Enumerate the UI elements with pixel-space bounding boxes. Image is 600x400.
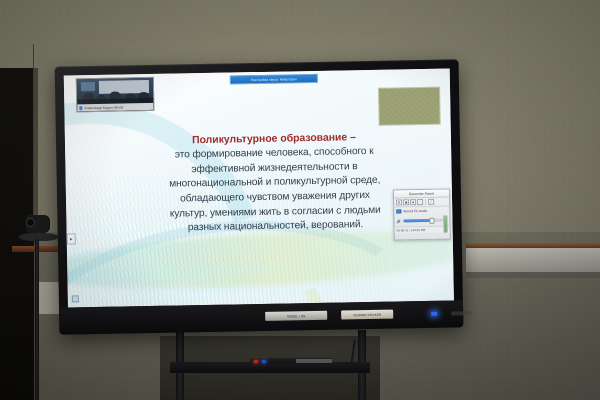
settings-icon[interactable]: ⚙ bbox=[396, 199, 402, 205]
pip-nameplate: Александр Кадан (Host) bbox=[77, 103, 153, 111]
audio-level-meter bbox=[443, 216, 447, 233]
slide-corner-icon[interactable] bbox=[72, 295, 79, 302]
classroom-photo: Александр Кадан (Host) Настройка звука: … bbox=[0, 0, 600, 400]
toolbar-divider bbox=[425, 199, 426, 205]
checkbox-label: Record PC Audio bbox=[403, 209, 428, 213]
camera-base bbox=[19, 233, 59, 241]
speaker-icon: 🔊 bbox=[396, 218, 401, 223]
display-model-label: MODEL / SN bbox=[265, 311, 327, 321]
pip-screen bbox=[81, 82, 95, 91]
panel-expand-tab[interactable]: ▸ bbox=[67, 233, 76, 244]
display-screen[interactable]: Александр Кадан (Host) Настройка звука: … bbox=[64, 68, 454, 307]
screen-icon[interactable]: ▣ bbox=[403, 199, 409, 205]
pen-icon[interactable]: ╱ bbox=[428, 199, 434, 205]
equipment-led-blue bbox=[262, 360, 266, 363]
camera-stand-pole bbox=[35, 239, 39, 400]
slide-text-block: Поликультурное образование – это формиро… bbox=[139, 129, 411, 237]
equipment-strip bbox=[296, 359, 332, 363]
ir-sensor bbox=[451, 311, 471, 315]
upload-icon[interactable]: ↑ bbox=[417, 199, 423, 205]
recorder-status-text: 00:00:41 / 146.30 MB bbox=[395, 226, 450, 234]
checkbox-checked-icon[interactable]: ✓ bbox=[396, 209, 401, 214]
pip-participant-name: Александр Кадан (Host) bbox=[84, 105, 123, 110]
camera-lens-icon bbox=[26, 218, 35, 227]
slider-knob[interactable] bbox=[429, 217, 434, 223]
webcam-pip[interactable]: Александр Кадан (Host) bbox=[76, 77, 155, 112]
slider-fill bbox=[403, 219, 430, 222]
notification-bar[interactable]: Настройка звука: Микрофон bbox=[230, 74, 318, 85]
power-led bbox=[431, 312, 437, 316]
equipment-led-red bbox=[254, 360, 258, 363]
video-placeholder-box[interactable] bbox=[378, 87, 441, 126]
camera-cable bbox=[33, 44, 34, 216]
recorder-panel[interactable]: Recorder Panel ⚙ ▣ ■ ↑ ╱ ✓ Record PC Aud… bbox=[393, 189, 451, 241]
display-vendor-label: VENDOR STICKER bbox=[341, 310, 393, 320]
microphone-icon bbox=[79, 106, 82, 110]
wall-display[interactable]: Александр Кадан (Host) Настройка звука: … bbox=[55, 59, 464, 334]
ledge-lip bbox=[466, 272, 600, 278]
record-icon[interactable]: ■ bbox=[410, 199, 416, 205]
slider-track[interactable] bbox=[403, 219, 447, 223]
